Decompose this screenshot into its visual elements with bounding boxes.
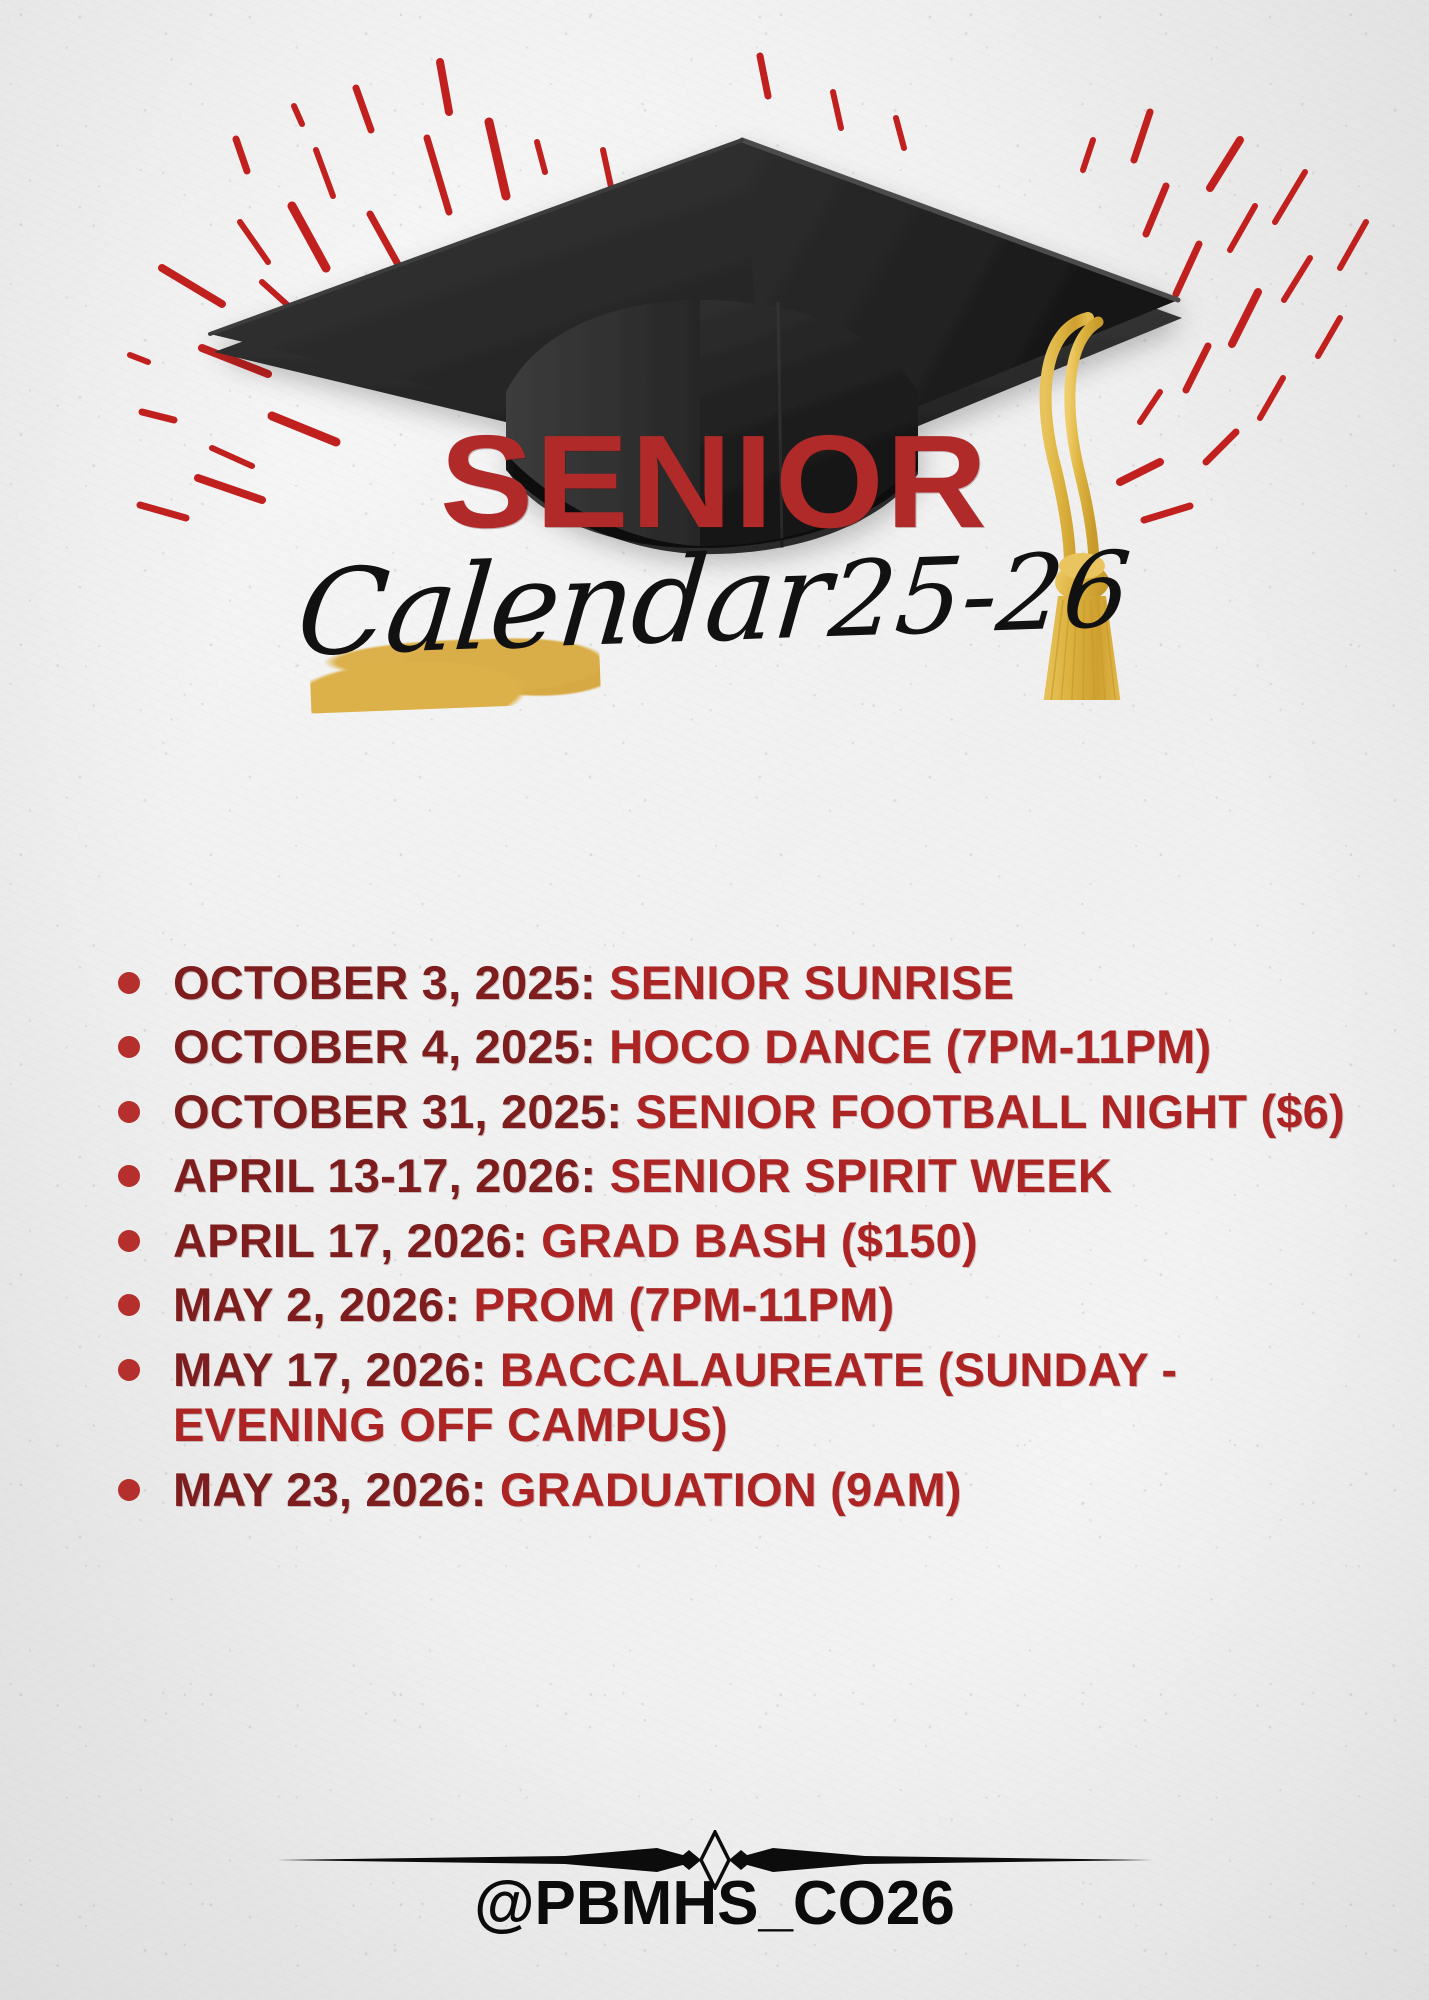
social-handle: @PBMHS_CO26 (0, 1868, 1429, 1939)
event-title: SENIOR SUNRISE (609, 956, 1014, 1009)
script-years: 25-26 (825, 528, 1135, 661)
bullet-icon (118, 1294, 140, 1316)
event-title: SENIOR FOOTBALL NIGHT ($6) (635, 1085, 1344, 1138)
list-item: OCTOBER 4, 2025: HOCO DANCE (7PM-11PM) (118, 1019, 1348, 1074)
bullet-icon (118, 1359, 140, 1381)
list-item: MAY 23, 2026: GRADUATION (9AM) (118, 1462, 1348, 1517)
script-heading: Calendar25-26 (0, 530, 1429, 730)
event-title: PROM (7PM-11PM) (473, 1278, 894, 1331)
list-item: MAY 17, 2026: BACCALAUREATE (SUNDAY -EVE… (118, 1342, 1348, 1453)
list-item: OCTOBER 3, 2025: SENIOR SUNRISE (118, 955, 1348, 1010)
event-date: MAY 23, 2026: (173, 1463, 500, 1516)
bullet-icon (118, 1479, 140, 1501)
event-title: HOCO DANCE (7PM-11PM) (609, 1020, 1211, 1073)
event-date: APRIL 17, 2026: (173, 1214, 541, 1267)
event-date: OCTOBER 31, 2025: (173, 1085, 635, 1138)
script-heading-text: Calendar25-26 (293, 515, 1137, 683)
event-date: MAY 2, 2026: (173, 1278, 473, 1331)
event-title: SENIOR SPIRIT WEEK (610, 1149, 1112, 1202)
event-title: GRADUATION (9AM) (500, 1463, 962, 1516)
event-list: OCTOBER 3, 2025: SENIOR SUNRISE OCTOBER … (118, 955, 1348, 1526)
bullet-icon (118, 1101, 140, 1123)
senior-calendar-poster: SENIOR Calendar25-26 OCTOBER 3, 2025: SE… (0, 0, 1429, 2000)
list-item: OCTOBER 31, 2025: SENIOR FOOTBALL NIGHT … (118, 1084, 1348, 1139)
script-word: Calendar (293, 526, 835, 683)
page-title: SENIOR (0, 416, 1429, 548)
event-date: MAY 17, 2026: (173, 1343, 500, 1396)
bullet-icon (118, 1230, 140, 1252)
bullet-icon (118, 972, 140, 994)
event-date: APRIL 13-17, 2026: (173, 1149, 610, 1202)
list-item: MAY 2, 2026: PROM (7PM-11PM) (118, 1277, 1348, 1332)
bullet-icon (118, 1036, 140, 1058)
event-date: OCTOBER 3, 2025: (173, 956, 609, 1009)
list-item: APRIL 17, 2026: GRAD BASH ($150) (118, 1213, 1348, 1268)
list-item: APRIL 13-17, 2026: SENIOR SPIRIT WEEK (118, 1148, 1348, 1203)
event-date: OCTOBER 4, 2025: (173, 1020, 609, 1073)
bullet-icon (118, 1165, 140, 1187)
event-title: GRAD BASH ($150) (541, 1214, 978, 1267)
